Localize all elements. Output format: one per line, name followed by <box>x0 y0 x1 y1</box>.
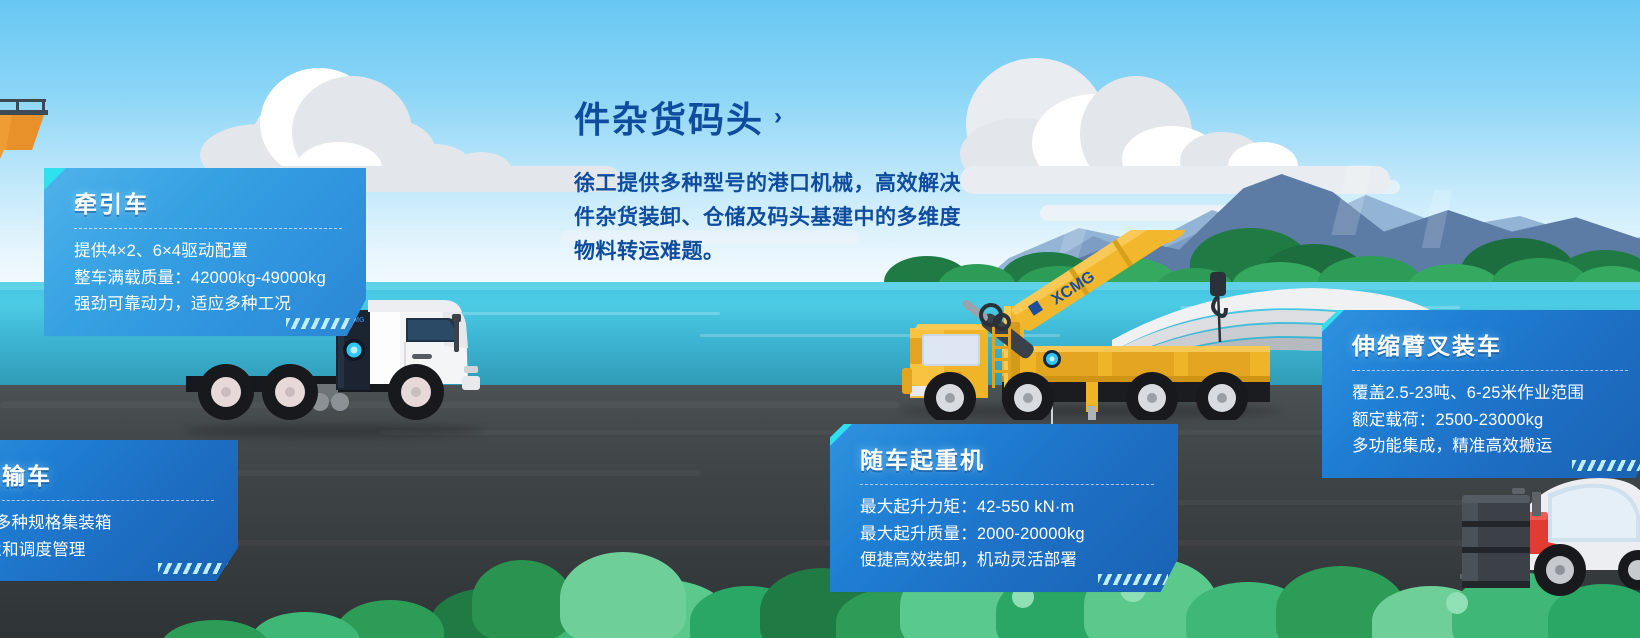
headline-block: 件杂货码头 › 徐工提供多种型号的港口机械，高效解决件杂货装卸、仓储及码头基建中… <box>574 98 994 269</box>
card-spec-line: 多功能集成，精准高效搬运 <box>1352 433 1628 460</box>
card-title: 随车起重机 <box>860 441 1154 475</box>
info-card-tractor[interactable]: 牵引车 提供4×2、6×4驱动配置 整车满载质量：42000kg-49000kg… <box>44 168 366 336</box>
card-spec-line: 提供4×2、6×4驱动配置 <box>74 238 342 265</box>
chevron-right-icon[interactable]: › <box>774 103 784 132</box>
card-title: 伸缩臂叉装车 <box>1352 327 1628 361</box>
card-title: 平运输车 <box>0 457 214 491</box>
page-title-text: 件杂货码头 <box>574 98 764 141</box>
card-spec-line: 强劲可靠动力，适应多种工况 <box>74 291 342 318</box>
card-spec-line: 5尺等多种规格集装箱 <box>0 510 214 537</box>
page-description: 徐工提供多种型号的港口机械，高效解决件杂货装卸、仓储及码头基建中的多维度物料转运… <box>574 167 964 269</box>
card-divider <box>1352 370 1628 371</box>
card-stripes-decor <box>158 563 228 574</box>
info-card-telehandler[interactable]: 伸缩臂叉装车 覆盖2.5-23吨、6-25米作业范围 额定载荷：2500-230… <box>1322 310 1640 478</box>
card-spec-line: 整车满载质量：42000kg-49000kg <box>74 265 342 292</box>
card-spec-line: 覆盖2.5-23吨、6-25米作业范围 <box>1352 380 1628 407</box>
oil-barrel <box>1462 495 1530 591</box>
page-title: 件杂货码头 › <box>574 98 994 141</box>
card-spec-line: 组作业和调度管理 <box>0 537 214 564</box>
card-divider <box>860 484 1154 485</box>
card-spec-line: 最大起升力矩：42-550 kN·m <box>860 494 1154 521</box>
card-stripes-decor <box>1098 574 1168 585</box>
card-stripes-decor <box>286 318 356 329</box>
card-corner-notch-icon <box>44 168 66 190</box>
card-spec-line: 便捷高效装卸，机动灵活部署 <box>860 547 1154 574</box>
info-card-flatbed[interactable]: 平运输车 5尺等多种规格集装箱 组作业和调度管理 <box>0 440 238 581</box>
card-spec-line: 最大起升质量：2000-20000kg <box>860 521 1154 548</box>
card-title: 牵引车 <box>74 185 342 219</box>
card-spec-line: 额定载荷：2500-23000kg <box>1352 407 1628 434</box>
cloud-right <box>960 30 1480 190</box>
scene-canvas: XCMG <box>0 0 1640 638</box>
card-divider <box>74 228 342 229</box>
card-divider <box>0 500 214 501</box>
info-card-crane[interactable]: 随车起重机 最大起升力矩：42-550 kN·m 最大起升质量：2000-200… <box>830 424 1178 592</box>
card-stripes-decor <box>1572 460 1640 471</box>
